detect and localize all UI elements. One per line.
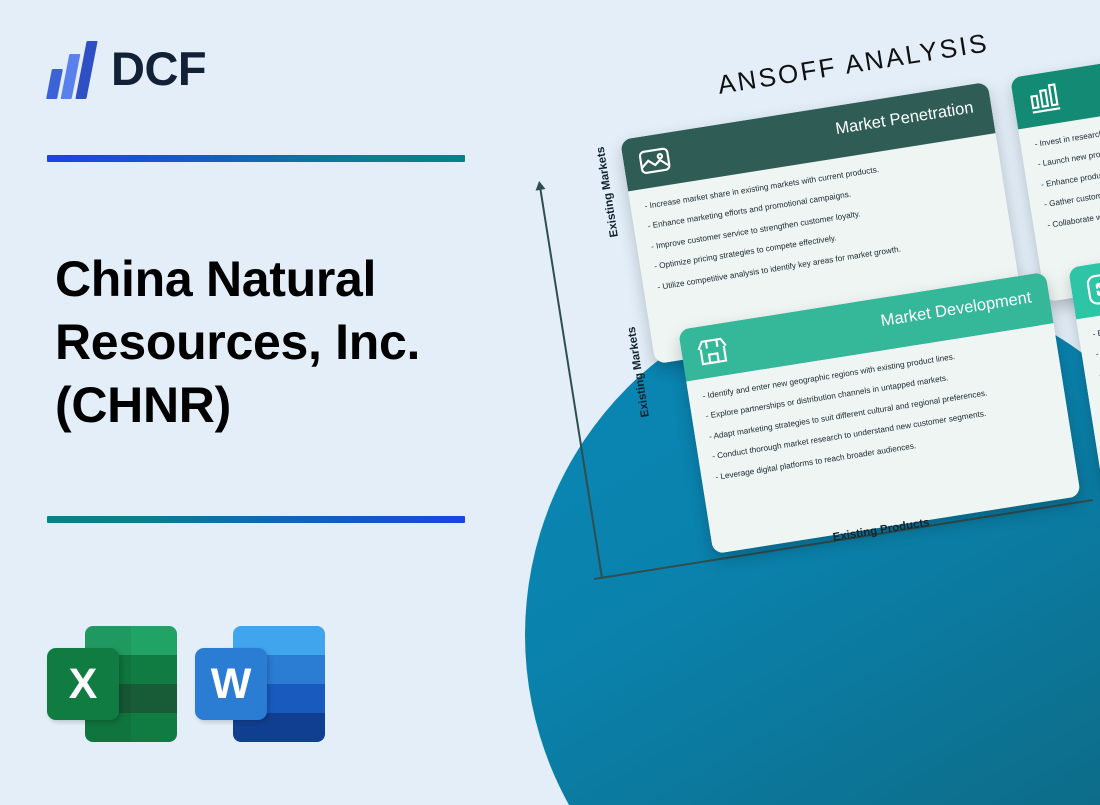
word-badge-letter: W (195, 648, 267, 720)
excel-badge-letter: X (47, 648, 119, 720)
card-product-development[interactable]: Product Development - Invest in research… (1010, 20, 1100, 302)
brand-name: DCF (111, 45, 206, 92)
divider-top (47, 155, 465, 162)
card-header: Product Development (1010, 20, 1100, 130)
storefront-icon (693, 331, 732, 370)
image-icon (635, 141, 674, 180)
bar-chart-icon (1025, 79, 1064, 118)
page-title: China Natural Resources, Inc. (CHNR) (55, 248, 495, 437)
expand-arrows-icon (1083, 269, 1100, 308)
divider-bottom (47, 516, 465, 523)
excel-icon[interactable]: X (47, 622, 180, 746)
slide-canvas: ANSOFF ANALYSIS Existing Markets Existin… (0, 0, 1100, 805)
card-title: Market Penetration (834, 98, 975, 139)
ansoff-matrix-graphic: ANSOFF ANALYSIS Existing Markets Existin… (470, 0, 1100, 805)
card-title: Market Development (879, 288, 1032, 331)
brand-logo[interactable]: DCF (47, 36, 206, 100)
office-icons-group: X W (47, 622, 328, 746)
word-icon[interactable]: W (195, 622, 328, 746)
dcf-bars-logo-icon (47, 37, 99, 99)
left-panel: DCF China Natural Resources, Inc. (CHNR)… (0, 0, 540, 805)
y-axis-top-label: Existing Markets (595, 146, 621, 238)
